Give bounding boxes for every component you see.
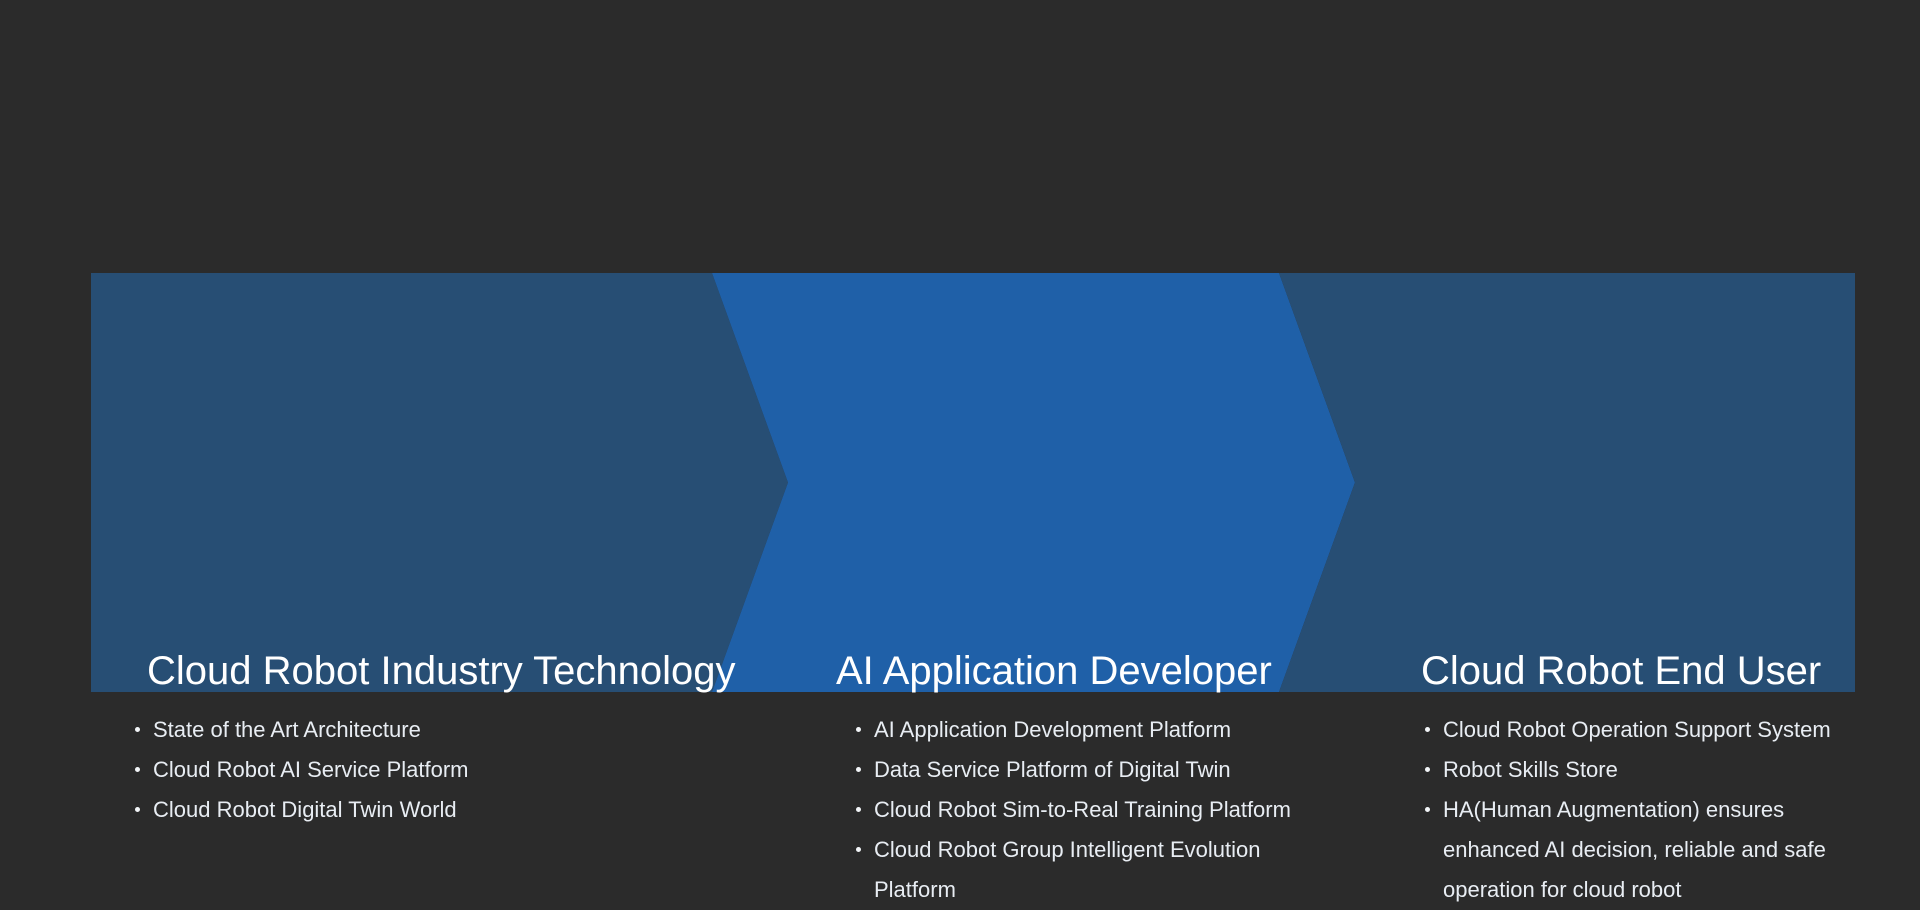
- bullet-dot-icon: [856, 767, 861, 772]
- bullet-text: State of the Art Architecture: [153, 710, 673, 750]
- list-item: Cloud Robot Operation Support System: [1423, 710, 1853, 750]
- bullet-dot-icon: [1425, 807, 1430, 812]
- bullet-dot-icon: [856, 807, 861, 812]
- list-item: HA(Human Augmentation) ensures enhanced …: [1423, 790, 1853, 910]
- chevron-column-3: Cloud Robot End User Cloud Robot Operati…: [1331, 273, 1851, 692]
- bullet-dot-icon: [1425, 727, 1430, 732]
- chevron-column-2: AI Application Developer AI Application …: [751, 273, 1311, 692]
- list-item: Cloud Robot Digital Twin World: [133, 790, 673, 830]
- bullet-text: Data Service Platform of Digital Twin: [874, 750, 1324, 790]
- slide-canvas: Cloud Robot Industry Technology State of…: [0, 0, 1920, 868]
- column-2-bullet-list: AI Application Development Platform Data…: [854, 710, 1324, 910]
- list-item: Robot Skills Store: [1423, 750, 1853, 790]
- bullet-text: Cloud Robot Group Intelligent Evolution …: [874, 830, 1324, 910]
- bullet-dot-icon: [856, 847, 861, 852]
- bullet-dot-icon: [135, 807, 140, 812]
- column-3-bullet-list: Cloud Robot Operation Support System Rob…: [1423, 710, 1853, 910]
- bullet-text: Cloud Robot Sim-to-Real Training Platfor…: [874, 790, 1324, 830]
- bullet-text: Cloud Robot AI Service Platform: [153, 750, 673, 790]
- list-item: Cloud Robot Group Intelligent Evolution …: [854, 830, 1324, 910]
- bullet-text: Cloud Robot Operation Support System: [1443, 710, 1853, 750]
- chevron-process-banner: Cloud Robot Industry Technology State of…: [91, 273, 1855, 692]
- bullet-dot-icon: [856, 727, 861, 732]
- list-item: Cloud Robot Sim-to-Real Training Platfor…: [854, 790, 1324, 830]
- bullet-text: AI Application Development Platform: [874, 710, 1324, 750]
- list-item: Cloud Robot AI Service Platform: [133, 750, 673, 790]
- list-item: State of the Art Architecture: [133, 710, 673, 750]
- bullet-dot-icon: [1425, 767, 1430, 772]
- list-item: Data Service Platform of Digital Twin: [854, 750, 1324, 790]
- column-2-title: AI Application Developer: [836, 651, 1272, 691]
- column-1-bullet-list: State of the Art Architecture Cloud Robo…: [133, 710, 673, 830]
- column-3-title: Cloud Robot End User: [1421, 651, 1821, 691]
- bullet-text: Cloud Robot Digital Twin World: [153, 790, 673, 830]
- bullet-text: HA(Human Augmentation) ensures enhanced …: [1443, 790, 1853, 910]
- bullet-dot-icon: [135, 767, 140, 772]
- column-1-title: Cloud Robot Industry Technology: [147, 651, 736, 691]
- list-item: AI Application Development Platform: [854, 710, 1324, 750]
- bullet-text: Robot Skills Store: [1443, 750, 1853, 790]
- chevron-column-1: Cloud Robot Industry Technology State of…: [91, 273, 691, 692]
- bullet-dot-icon: [135, 727, 140, 732]
